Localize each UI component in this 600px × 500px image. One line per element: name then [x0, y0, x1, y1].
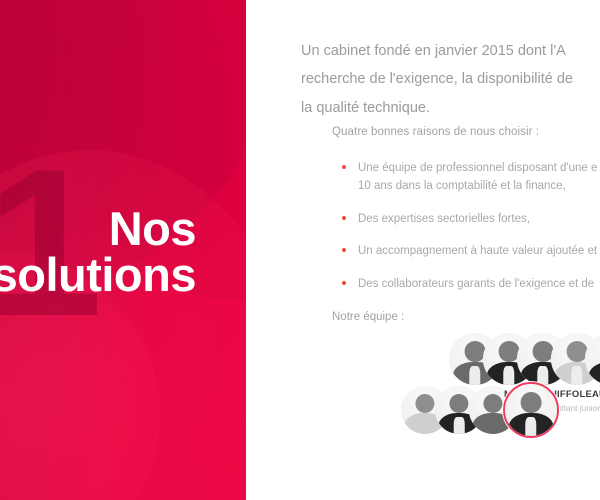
intro-paragraph: Un cabinet fondé en janvier 2015 dont l'… — [301, 37, 600, 122]
avatar-highlighted[interactable] — [503, 382, 559, 438]
intro-line-1: Un cabinet fondé en janvier 2015 dont l'… — [301, 37, 600, 65]
reasons-bullet-list: Une équipe de professionnel disposant d'… — [342, 160, 600, 309]
team-avatar-row-top — [449, 333, 600, 385]
bullet-dot-icon — [342, 216, 346, 220]
list-item: Des collaborateurs garants de l'exigence… — [342, 276, 600, 294]
bullet-dot-icon — [342, 165, 346, 169]
avatar-head-icon — [521, 392, 542, 413]
bullet-line-1: Une équipe de professionnel disposant d'… — [358, 162, 597, 174]
section-title: Nos solutions — [0, 206, 196, 298]
avatar[interactable] — [585, 333, 600, 385]
bullet-line-1: Des collaborateurs garants de l'exigence… — [358, 278, 594, 290]
team-lead-text: Notre équipe : — [332, 311, 404, 323]
intro-line-3: la qualité technique. — [301, 94, 600, 122]
bullet-dot-icon — [342, 281, 346, 285]
intro-line-2: recherche de l'exigence, la disponibilit… — [301, 65, 600, 93]
avatar-shirt-icon — [571, 366, 582, 385]
list-item: Des expertises sectorielles fortes, — [342, 211, 600, 229]
list-item: Un accompagnement à haute valeur ajoutée… — [342, 243, 600, 261]
left-red-panel: 1 Nos solutions — [0, 0, 246, 500]
content-area: Un cabinet fondé en janvier 2015 dont l'… — [246, 0, 600, 500]
avatar-shirt-icon — [525, 417, 536, 438]
bullet-line-1: Un accompagnement à haute valeur ajoutée… — [358, 245, 597, 257]
slide-canvas: 1 Nos solutions Un cabinet fondé en janv… — [0, 0, 600, 500]
avatar-shirt-icon — [454, 417, 465, 434]
bullet-dot-icon — [342, 248, 346, 252]
team-avatar-row-bottom — [401, 382, 559, 438]
bullet-line-1: Des expertises sectorielles fortes, — [358, 213, 530, 225]
reasons-lead-text: Quatre bonnes raisons de nous choisir : — [332, 126, 539, 138]
bullet-line-2: 10 ans dans la comptabilité et la financ… — [358, 178, 600, 196]
list-item: Une équipe de professionnel disposant d'… — [342, 160, 600, 196]
section-title-line-1: Nos — [0, 206, 196, 252]
section-title-line-2: solutions — [0, 252, 196, 298]
